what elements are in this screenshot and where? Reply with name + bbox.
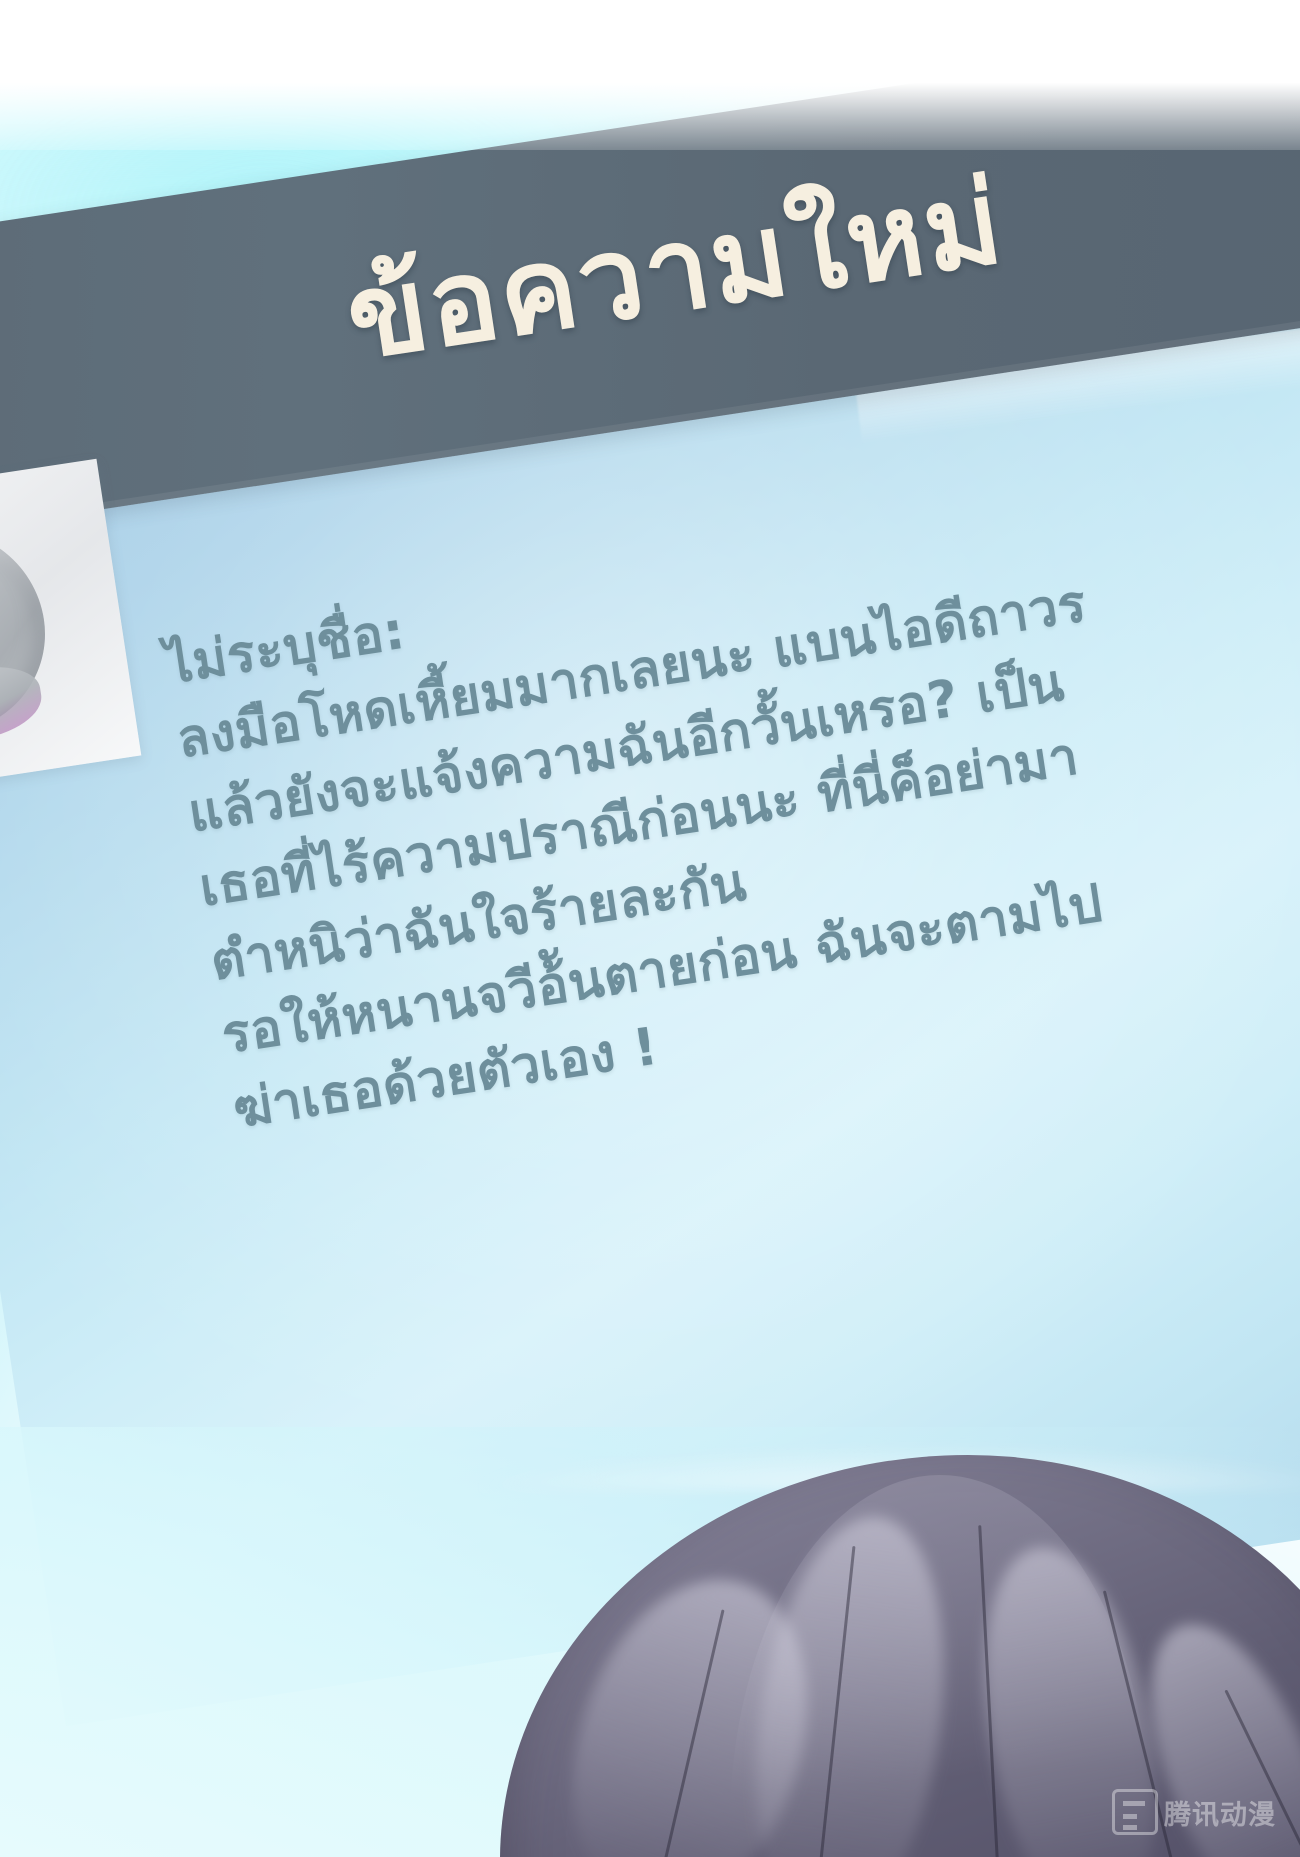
top-white-margin [0,0,1300,150]
comic-panel: ข้อความใหม่ ไม่ระบุชื่อ: ลงมือโหดเหี้ยมม… [0,0,1300,1857]
watermark: 腾讯动漫 [1076,1785,1276,1839]
watermark-text: 腾讯动漫 [1164,1793,1276,1832]
watermark-logo-icon [1112,1789,1158,1835]
helmet-plate-icon [0,660,46,750]
